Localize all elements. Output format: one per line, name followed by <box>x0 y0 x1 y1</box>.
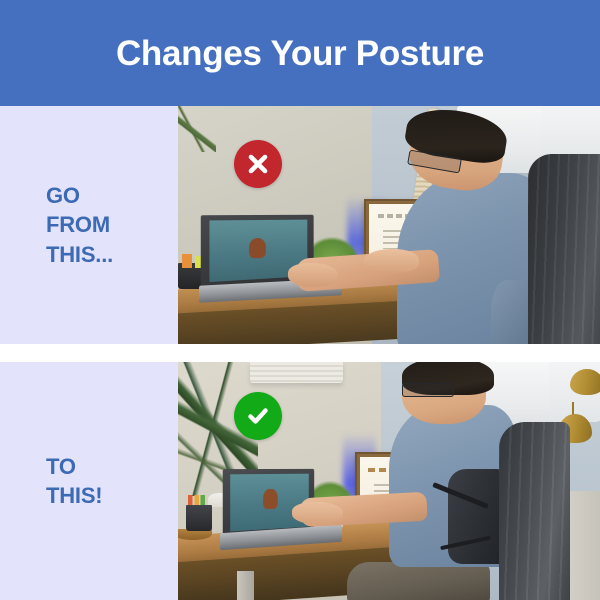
pencil-cup <box>186 505 211 531</box>
chair-mesh-texture <box>499 422 571 600</box>
caption-line: GO <box>46 181 178 210</box>
x-mark-icon <box>245 151 271 177</box>
page-title: Changes Your Posture <box>116 36 484 71</box>
person-legs <box>347 562 490 600</box>
lab-coat-secondary <box>541 106 600 161</box>
caption-panel-after: TO THIS! <box>0 362 178 600</box>
office-chair <box>499 422 571 600</box>
check-mark-icon <box>244 402 272 430</box>
comparison-row-after: TO THIS! <box>0 362 600 600</box>
shirt-fold <box>491 280 532 344</box>
poster-root: Changes Your Posture GO FROM THIS... <box>0 0 600 600</box>
row-divider <box>0 344 600 362</box>
caption-line: TO <box>46 452 178 481</box>
desk-leg <box>237 571 254 600</box>
scene-bad-posture <box>178 106 600 344</box>
header-banner: Changes Your Posture <box>0 0 600 106</box>
caption-line: FROM <box>46 210 178 239</box>
eyeglasses <box>402 383 455 397</box>
pencil-orange <box>182 254 192 268</box>
office-chair <box>528 154 600 344</box>
status-badge-error <box>234 140 282 188</box>
plant-leaf-corner <box>178 106 216 152</box>
caption-line: THIS! <box>46 481 178 510</box>
person-hand <box>292 502 343 523</box>
laptop-screen-icon <box>264 489 278 509</box>
person-hand-right <box>364 249 419 273</box>
photo-after <box>178 362 600 600</box>
ceiling-vent <box>250 362 343 383</box>
caption-panel-before: GO FROM THIS... <box>0 106 178 344</box>
chair-mesh-texture <box>528 154 600 344</box>
photo-before <box>178 106 600 344</box>
laptop-screen-icon <box>249 238 267 259</box>
status-badge-success <box>234 392 282 440</box>
comparison-row-before: GO FROM THIS... <box>0 106 600 344</box>
person-hand-left <box>288 263 339 287</box>
pendant-lamp-upper <box>570 369 600 395</box>
caption-line: THIS... <box>46 240 178 269</box>
laptop-screen <box>231 473 309 531</box>
